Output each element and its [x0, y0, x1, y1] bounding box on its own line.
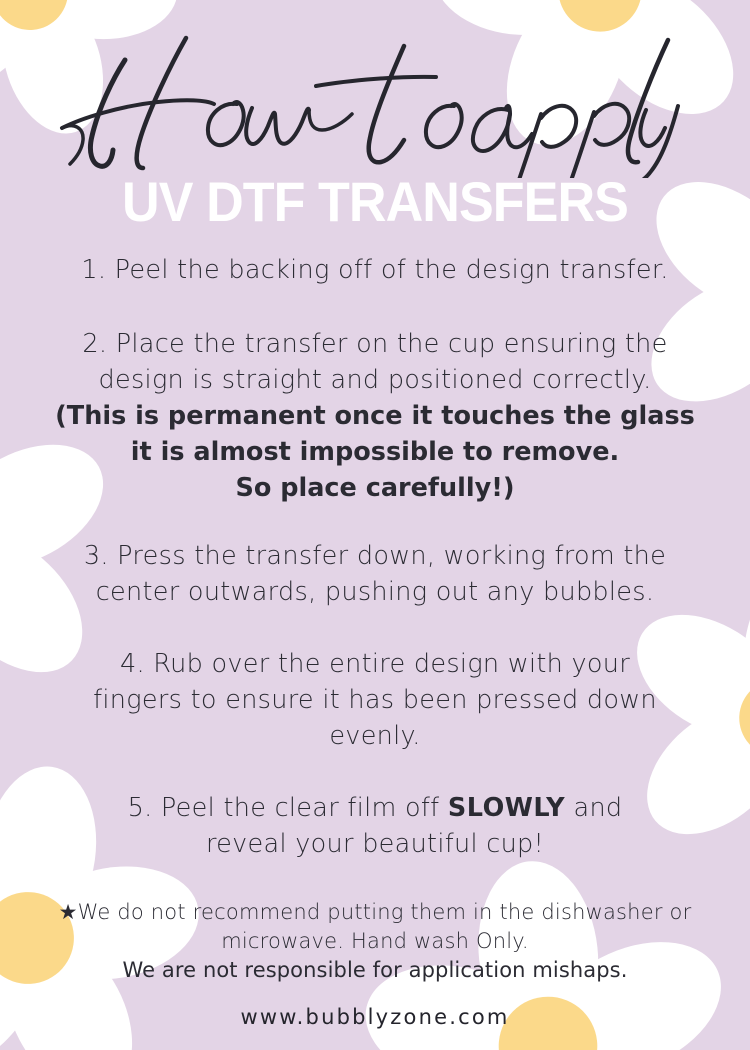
step-5-line-1-prefix: 5. Peel the clear film off — [128, 793, 448, 823]
poster-header: UV DTF TRANSFERS — [0, 0, 750, 245]
disclaimer-line-3: We are not responsible for application m… — [26, 956, 724, 985]
instruction-step-2: 2. Place the transfer on the cup ensurin… — [26, 326, 724, 506]
instruction-steps: 1. Peel the backing off of the design tr… — [26, 252, 724, 862]
step-1-line-1: 1. Peel the backing off of the design tr… — [81, 255, 668, 285]
poster-subtitle: UV DTF TRANSFERS — [26, 172, 724, 232]
script-title-how-to-apply — [0, 18, 750, 178]
instruction-step-4: 4. Rub over the entire design with your … — [26, 646, 724, 754]
step-5-emphasis-slowly: SLOWLY — [448, 793, 565, 823]
instruction-step-5: 5. Peel the clear film off SLOWLY and re… — [26, 790, 724, 862]
disclaimer-line-1: ★We do not recommend putting them in the… — [26, 898, 724, 927]
step-2-line-3: (This is permanent once it touches the g… — [55, 401, 695, 431]
script-title-artwork — [0, 18, 750, 178]
instruction-step-1: 1. Peel the backing off of the design tr… — [26, 252, 724, 288]
step-2-line-2: design is straight and positioned correc… — [99, 365, 652, 395]
website-url[interactable]: www.bubblyzone.com — [0, 1005, 750, 1029]
step-3-line-1: 3. Press the transfer down, working from… — [84, 541, 666, 571]
instruction-step-3: 3. Press the transfer down, working from… — [26, 538, 724, 610]
step-5-line-1-suffix: and — [565, 793, 622, 823]
poster-canvas: UV DTF TRANSFERS 1. Peel the backing off… — [0, 0, 750, 1050]
step-5-line-2: reveal your beautiful cup! — [206, 829, 544, 859]
step-2-line-1: 2. Place the transfer on the cup ensurin… — [82, 329, 667, 359]
step-4-line-1: 4. Rub over the entire design with your — [120, 649, 630, 679]
footer-disclaimer: ★We do not recommend putting them in the… — [26, 898, 724, 985]
step-2-line-5: So place carefully!) — [235, 473, 514, 503]
step-3-line-2: center outwards, pushing out any bubbles… — [96, 577, 655, 607]
disclaimer-line-2: microwave. Hand wash Only. — [26, 927, 724, 956]
step-2-line-4: it is almost impossible to remove. — [131, 437, 619, 467]
step-4-line-2: fingers to ensure it has been pressed do… — [93, 685, 657, 715]
step-4-line-3: evenly. — [329, 721, 420, 751]
